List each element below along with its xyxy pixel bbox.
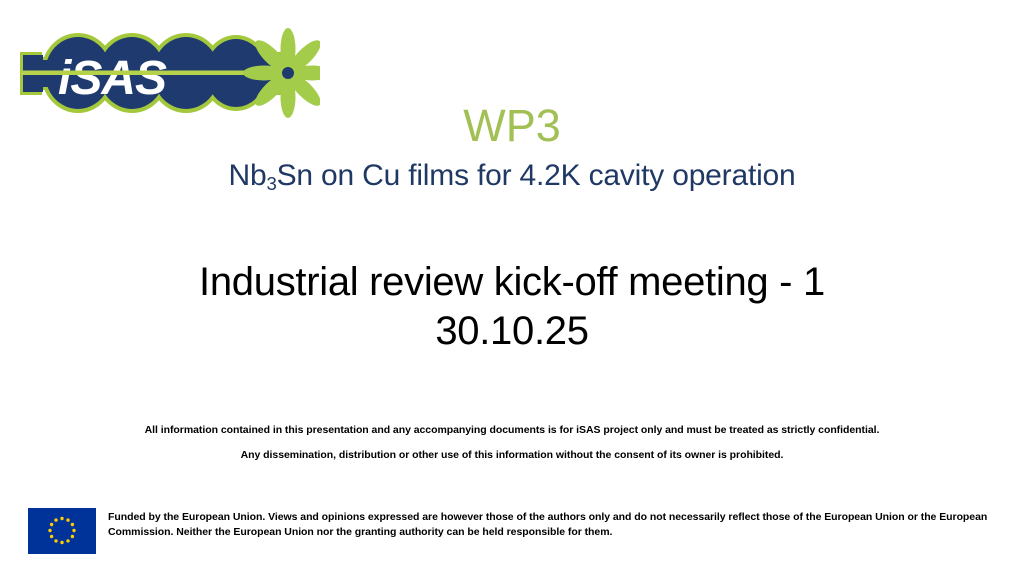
- work-package-title: WP3: [0, 100, 1024, 152]
- subtitle-rest: Sn on Cu films for 4.2K cavity operation: [277, 159, 796, 192]
- meeting-block: Industrial review kick-off meeting - 1 3…: [0, 258, 1024, 356]
- subtitle-prefix: Nb: [228, 159, 266, 192]
- european-union-flag-icon: [28, 508, 96, 554]
- title-block: WP3 Nb3Sn on Cu films for 4.2K cavity op…: [0, 100, 1024, 196]
- confidentiality-notice: All information contained in this presen…: [0, 418, 1024, 467]
- meeting-title: Industrial review kick-off meeting - 1: [0, 258, 1024, 307]
- isas-wordmark: iSAS: [58, 52, 167, 105]
- eu-funding-footer: Funded by the European Union. Views and …: [28, 508, 1003, 554]
- eu-funding-text: Funded by the European Union. Views and …: [108, 508, 1003, 540]
- confidentiality-line-2: Any dissemination, distribution or other…: [0, 443, 1024, 467]
- meeting-date: 30.10.25: [0, 307, 1024, 356]
- confidentiality-line-1: All information contained in this presen…: [0, 418, 1024, 442]
- subtitle-subscript: 3: [266, 173, 276, 194]
- work-package-subtitle: Nb3Sn on Cu films for 4.2K cavity operat…: [0, 156, 1024, 196]
- flower-center: [282, 67, 294, 79]
- title-slide: iSAS WP3 Nb3Sn on Cu films: [0, 0, 1024, 576]
